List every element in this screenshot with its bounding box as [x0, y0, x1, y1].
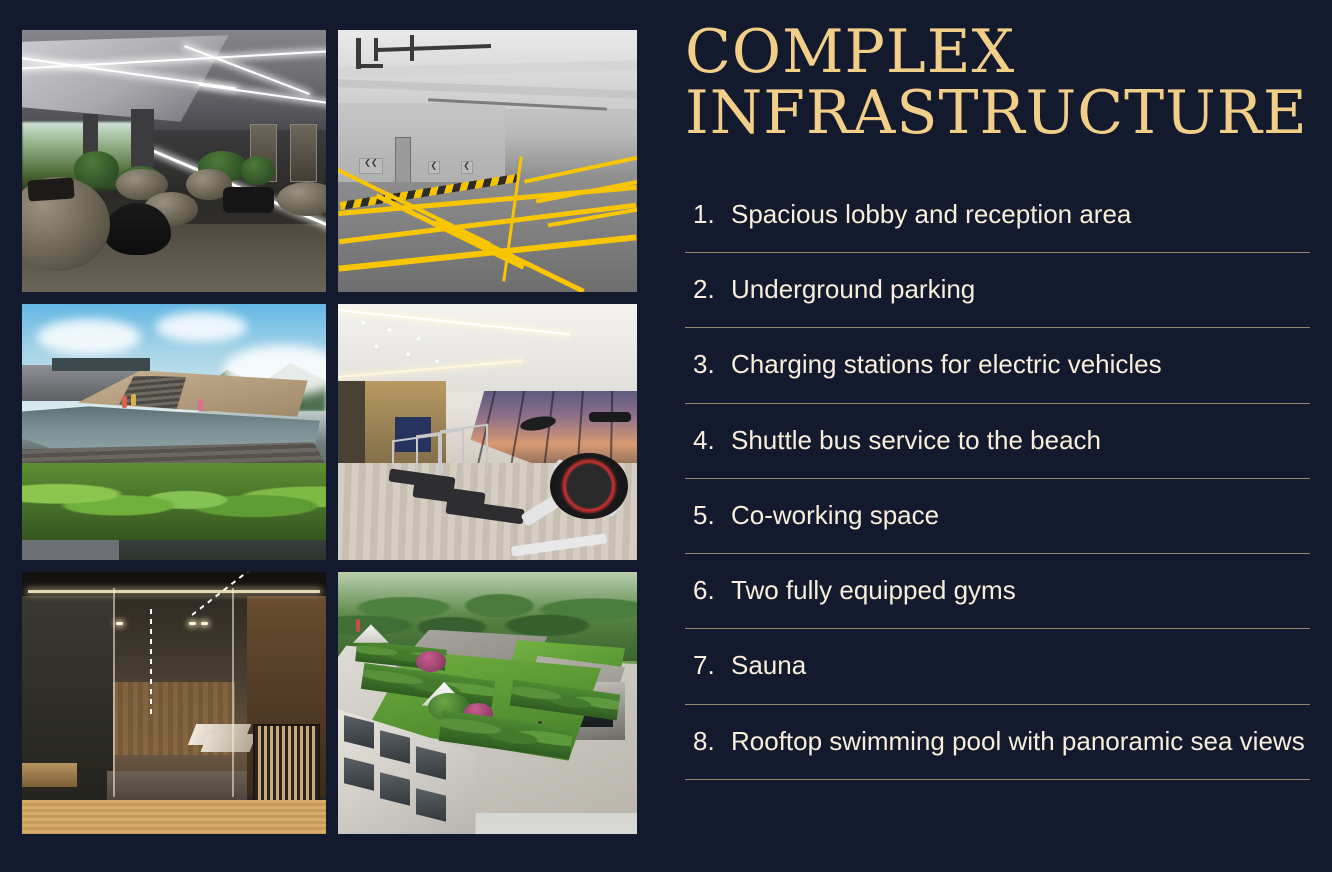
- content-panel: COMPLEX INFRASTRUCTURE 1. Spacious lobby…: [685, 0, 1310, 872]
- cloud-icon: [156, 312, 247, 343]
- list-item-number: 7.: [693, 649, 731, 681]
- lobby-cushion: [27, 178, 74, 202]
- page-title: COMPLEX INFRASTRUCTURE: [685, 22, 1310, 144]
- spotlight-icon: [189, 622, 196, 625]
- list-item-label: Underground parking: [731, 273, 1310, 305]
- underground-parking-photo: ❮❮ ❮ ❮: [338, 30, 637, 292]
- person-icon: [198, 399, 203, 411]
- list-item-label: Spacious lobby and reception area: [731, 198, 1310, 230]
- spa-floor: [107, 771, 247, 802]
- glass-partition-edge: [232, 588, 234, 798]
- list-item-number: 1.: [693, 198, 731, 230]
- adjacent-building-roof: [52, 358, 149, 371]
- list-item-label: Rooftop swimming pool with panoramic sea…: [731, 725, 1310, 757]
- lobby-side-table: [223, 187, 275, 213]
- glass-reflection: [150, 609, 152, 719]
- glass-partition-edge: [113, 588, 115, 798]
- rooftop-garden-photo: [338, 572, 637, 834]
- list-item-number: 4.: [693, 424, 731, 456]
- pipe-icon: [356, 64, 383, 68]
- spa-lounger: [201, 734, 257, 752]
- list-item-label: Sauna: [731, 649, 1310, 681]
- list-item: 3. Charging stations for electric vehicl…: [685, 348, 1310, 403]
- list-item-label: Two fully equipped gyms: [731, 574, 1310, 606]
- lobby-mirror: [290, 124, 317, 182]
- list-item: 7. Sauna: [685, 649, 1310, 704]
- flowering-shrub: [416, 651, 446, 672]
- list-item-label: Shuttle bus service to the beach: [731, 424, 1310, 456]
- list-item-number: 8.: [693, 725, 731, 757]
- spotlight-icon: [116, 622, 123, 625]
- treadmill-rail: [440, 424, 488, 482]
- cloud-icon: [37, 319, 140, 355]
- list-item-label: Co-working space: [731, 499, 1310, 531]
- chevron-left-sign-icon: ❮❮: [359, 158, 383, 174]
- list-item-number: 3.: [693, 348, 731, 380]
- pipe-icon: [374, 38, 378, 62]
- chevron-left-sign-icon: ❮: [461, 161, 473, 174]
- spin-bike-flywheel: [550, 453, 628, 520]
- sauna-photo: [22, 572, 326, 834]
- infrastructure-feature-list: 1. Spacious lobby and reception area 2. …: [685, 198, 1310, 800]
- parking-line: [524, 153, 637, 184]
- spotlight-icon: [201, 622, 208, 625]
- pipe-icon: [410, 35, 414, 61]
- person-icon: [356, 619, 360, 632]
- lobby-photo: [22, 30, 326, 292]
- list-item-number: 6.: [693, 574, 731, 606]
- spa-wood-deck: [22, 800, 326, 834]
- list-item: 1. Spacious lobby and reception area: [685, 198, 1310, 253]
- led-strip-icon: [28, 590, 320, 593]
- presentation-slide: ❮❮ ❮ ❮: [0, 0, 1332, 872]
- list-item: 8. Rooftop swimming pool with panoramic …: [685, 725, 1310, 780]
- person-icon: [131, 394, 136, 406]
- list-item: 6. Two fully equipped gyms: [685, 574, 1310, 629]
- rooftop-pool-photo: [22, 304, 326, 560]
- list-item: 5. Co-working space: [685, 499, 1310, 554]
- plant-icon: [241, 156, 274, 185]
- list-item-number: 5.: [693, 499, 731, 531]
- spa-shelving-unit: [253, 724, 320, 803]
- list-item-label: Charging stations for electric vehicles: [731, 348, 1310, 380]
- list-item-number: 2.: [693, 273, 731, 305]
- green-shrubbery: [22, 463, 326, 540]
- lobby-sofa: [277, 182, 326, 216]
- gym-side-wall: [338, 381, 365, 468]
- spin-bike-handlebar: [589, 412, 631, 422]
- gym-photo: [338, 304, 637, 560]
- image-gallery: ❮❮ ❮ ❮: [22, 30, 637, 838]
- list-item: 2. Underground parking: [685, 273, 1310, 328]
- person-icon: [122, 396, 127, 408]
- chevron-left-sign-icon: ❮: [428, 161, 440, 174]
- spa-bench: [22, 763, 77, 787]
- list-item: 4. Shuttle bus service to the beach: [685, 424, 1310, 479]
